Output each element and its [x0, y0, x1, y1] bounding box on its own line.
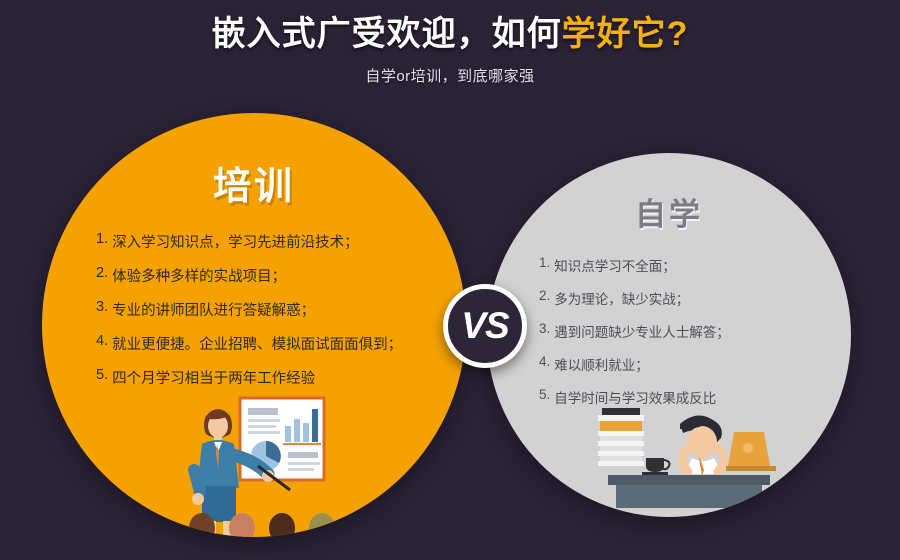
header: 嵌入式广受欢迎，如何学好它? 自学or培训，到底哪家强	[0, 0, 900, 86]
self-study-heading: 自学	[487, 189, 851, 234]
list-item-number: 2.	[96, 265, 108, 281]
self-study-drawback-list: 1.知识点学习不全面； 2.多为理论，缺少实战； 3.遇到问题缺少专业人士解答；…	[539, 255, 829, 420]
list-item: 5.四个月学习相当于两年工作经验	[96, 367, 440, 388]
page-title-plain: 嵌入式广受欢迎，如何	[212, 15, 562, 53]
list-item-text: 深入学习知识点，学习先进前沿技术；	[112, 231, 359, 252]
vs-badge-label: VS	[461, 307, 508, 344]
list-item-number: 1.	[539, 255, 550, 270]
poster-stage: 嵌入式广受欢迎，如何学好它? 自学or培训，到底哪家强 培训 1.深入学习知识点…	[0, 0, 900, 560]
training-benefit-list: 1.深入学习知识点，学习先进前沿技术； 2.体验多种多样的实战项目； 3.专业的…	[96, 231, 440, 401]
list-item-text: 四个月学习相当于两年工作经验	[112, 367, 315, 388]
page-title: 嵌入式广受欢迎，如何学好它?	[0, 0, 900, 53]
list-item: 3.专业的讲师团队进行答疑解惑；	[96, 299, 440, 320]
list-item-text: 知识点学习不全面；	[554, 255, 676, 275]
list-item: 1.深入学习知识点，学习先进前沿技术；	[96, 231, 440, 252]
list-item-number: 3.	[96, 299, 108, 315]
teacher-presenting-to-students-icon	[168, 386, 368, 537]
list-item-number: 5.	[539, 387, 550, 402]
training-heading: 培训	[42, 155, 466, 210]
list-item-text: 体验多种多样的实战项目；	[112, 265, 286, 286]
list-item: 2.多为理论，缺少实战；	[539, 288, 829, 308]
self-study-circle: 自学 1.知识点学习不全面； 2.多为理论，缺少实战； 3.遇到问题缺少专业人士…	[487, 153, 851, 517]
list-item-number: 4.	[96, 333, 108, 349]
list-item-text: 遇到问题缺少专业人士解答；	[554, 321, 730, 341]
training-circle: 培训 1.深入学习知识点，学习先进前沿技术； 2.体验多种多样的实战项目； 3.…	[42, 113, 466, 537]
list-item: 2.体验多种多样的实战项目；	[96, 265, 440, 286]
self-study-heading-text: 自学	[635, 197, 703, 232]
vs-badge: VS	[443, 284, 527, 368]
list-item-number: 2.	[539, 288, 550, 303]
list-item-number: 4.	[539, 354, 550, 369]
list-item: 4.难以顺利就业；	[539, 354, 829, 374]
list-item-number: 3.	[539, 321, 550, 336]
list-item: 1.知识点学习不全面；	[539, 255, 829, 275]
list-item-text: 多为理论，缺少实战；	[554, 288, 689, 308]
page-title-highlight: 学好它?	[562, 15, 689, 53]
list-item-number: 1.	[96, 231, 108, 247]
frustrated-person-at-desk-icon	[576, 398, 776, 508]
training-heading-text: 培训	[213, 166, 295, 208]
list-item: 4.就业更便捷。企业招聘、模拟面试面面俱到；	[96, 333, 440, 354]
list-item-text: 就业更便捷。企业招聘、模拟面试面面俱到；	[112, 333, 402, 354]
page-subtitle: 自学or培训，到底哪家强	[0, 53, 900, 86]
list-item-number: 5.	[96, 367, 108, 383]
list-item-text: 难以顺利就业；	[554, 354, 649, 374]
list-item: 3.遇到问题缺少专业人士解答；	[539, 321, 829, 341]
list-item-text: 专业的讲师团队进行答疑解惑；	[112, 299, 315, 320]
